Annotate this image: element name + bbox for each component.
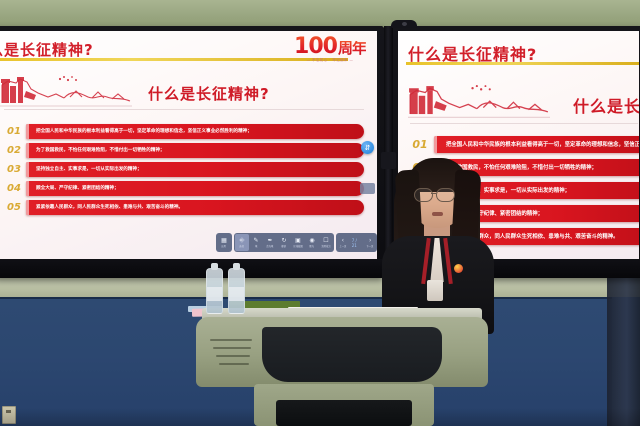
slide-main-title: 什么是长征精神?: [148, 83, 270, 104]
logo-unit: 周年: [338, 41, 366, 56]
badge: [427, 280, 443, 301]
page-number: 7 / 21: [352, 238, 362, 248]
bullet-text: 坚持独立自主、实事求是，一切从实际出发的精神；: [26, 162, 364, 177]
spotlight-glyph: ◉: [309, 237, 316, 244]
bullet-number: 04: [2, 183, 26, 194]
party-pin-icon: [454, 264, 463, 273]
annotation-toolbar[interactable]: ▦ 应用 ⎆ 选择 ✎ 笔 ✒: [216, 233, 377, 252]
water-bottle: [228, 268, 245, 314]
glasses-bridge: [431, 193, 436, 194]
bullet-row: 05 紧紧依靠人民群众，同人民群众生死相依、患难与共、艰苦奋斗的精神。: [2, 199, 364, 215]
apps-icon[interactable]: ▦ 应用: [217, 234, 231, 251]
bullet-row: 02 为了救国救民，不怕任何艰难险阻，不惜付出一切牺牲的精神；: [2, 142, 364, 158]
screenshot-icon[interactable]: ▣ 区域截图: [291, 234, 305, 251]
toolbar-pager-group[interactable]: ‹ 上一页 7 / 21 › 下一页: [336, 233, 377, 252]
bullet-number: 01: [2, 126, 26, 137]
erase-glyph: ☐: [323, 237, 330, 244]
cursor-label: 选择: [240, 245, 245, 248]
camera-icon: [391, 20, 417, 28]
slide-separator: [4, 109, 364, 110]
anniversary-logo: 100 周年 — 不忘初心 · 牢记使命 —: [288, 36, 372, 62]
logo-subtitle: — 不忘初心 · 牢记使命 —: [288, 59, 372, 62]
highlighter-label: 荧光笔: [266, 245, 273, 248]
bullet-text: 把全国人民和中华民族的根本利益看得高于一切，坚定革命的理想和信念，坚信正义事业必…: [434, 136, 639, 153]
water-bottle: [206, 268, 223, 314]
bottle-label: [207, 287, 222, 301]
podium-vent: [219, 363, 249, 365]
screenshot-label: 区域截图: [293, 245, 302, 248]
bullet-number: 03: [2, 164, 26, 175]
spotlight-icon[interactable]: ◉ 聚光: [305, 234, 319, 251]
glasses-icon: [414, 188, 433, 202]
cursor-icon[interactable]: ⎆ 选择: [235, 234, 249, 251]
prev-glyph: ‹: [342, 237, 344, 244]
chevron-right-icon[interactable]: › 下一页: [364, 234, 376, 251]
pen-icon[interactable]: ✎ 笔: [249, 234, 263, 251]
erase-icon[interactable]: ☐ 清除批注: [319, 234, 333, 251]
prev-label: 上一页: [339, 245, 346, 248]
apps-label: 应用: [222, 245, 227, 248]
slide-header-rule: [406, 62, 639, 65]
highlighter-glyph: ✒: [267, 237, 274, 244]
slide-main-title: 什么是长: [573, 93, 639, 117]
presenter: [378, 152, 496, 332]
bullet-row: 01 把全国人民和中华民族的根本利益看得高于一切，坚定革命的理想和信念，坚信正义…: [406, 135, 639, 153]
toolbar-tools-group[interactable]: ⎆ 选择 ✎ 笔 ✒ 荧光笔 ↻ 撤销: [234, 233, 334, 252]
bullet-row: 01 把全国人民和中华民族的根本利益看得高于一切，坚定革命的理想和信念，坚信正义…: [2, 123, 364, 139]
podium-front-panel: [262, 327, 442, 382]
bullet-number: 05: [2, 202, 26, 213]
spotlight-label: 聚光: [310, 245, 315, 248]
bullet-text: 为了救国救民，不怕任何艰难险阻，不惜付出一切牺牲的精神；: [26, 143, 364, 158]
undo-icon[interactable]: ↻ 撤销: [277, 234, 291, 251]
logo-number: 100: [294, 36, 337, 58]
wainscot-trim: [0, 297, 640, 299]
left-display-screen[interactable]: 么是长征精神? 100 周年 — 不忘初心 · 牢记使命 —: [0, 31, 377, 259]
toolbar-apps-group[interactable]: ▦ 应用: [216, 233, 232, 252]
page-indicator[interactable]: 7 / 21: [349, 238, 365, 248]
podium-vent: [216, 355, 250, 357]
erase-label: 清除批注: [321, 245, 330, 248]
bullet-row: 04 顾全大局、严守纪律、紧密团结的精神；: [2, 180, 364, 196]
podium-base-inset: [276, 400, 412, 426]
podium: [196, 308, 488, 426]
bullet-list: 01 把全国人民和中华民族的根本利益看得高于一切，坚定革命的理想和信念，坚信正义…: [2, 123, 364, 215]
podium-vent: [213, 347, 251, 349]
great-wall-ink-illustration: [0, 67, 132, 111]
slide-header-title: 么是长征精神?: [0, 39, 94, 60]
bullet-text: 顾全大局、严守纪律、紧密团结的精神；: [26, 181, 364, 196]
bullet-text: 把全国人民和中华民族的根本利益看得高于一切，坚定革命的理想和信念，坚信正义事业必…: [26, 124, 364, 139]
undo-glyph: ↻: [281, 237, 288, 244]
slide-left: 么是长征精神? 100 周年 — 不忘初心 · 牢记使命 —: [0, 31, 377, 259]
undo-label: 撤销: [282, 245, 287, 248]
bullet-number: 02: [2, 145, 26, 156]
share-icon[interactable]: ⇵: [361, 141, 374, 154]
glasses-icon: [436, 188, 455, 202]
pen-label: 笔: [255, 245, 257, 248]
next-label: 下一页: [367, 245, 374, 248]
next-glyph: ›: [369, 237, 371, 244]
left-display-chin: [0, 259, 384, 278]
pen-glyph: ✎: [253, 237, 260, 244]
bullet-number: 01: [406, 138, 434, 151]
bullet-text: 紧紧依靠人民群众，同人民群众生死相依、患难与共、艰苦奋斗的精神。: [26, 200, 364, 215]
bottle-label: [229, 287, 244, 301]
classroom-scene: 么是长征精神? 100 周年 — 不忘初心 · 牢记使命 —: [0, 0, 640, 426]
slide-separator: [410, 123, 638, 124]
chevron-left-icon[interactable]: ‹ 上一页: [337, 234, 349, 251]
menu-chip[interactable]: [360, 183, 375, 194]
cursor-glyph: ⎆: [239, 237, 246, 244]
bullet-row: 03 坚持独立自主、实事求是，一切从实际出发的精神；: [2, 161, 364, 177]
podium-vent: [210, 339, 252, 341]
screenshot-glyph: ▣: [295, 237, 302, 244]
apps-glyph: ▦: [221, 237, 228, 244]
great-wall-ink-illustration: [408, 75, 550, 123]
presenter-mouth: [432, 212, 443, 216]
left-display[interactable]: 么是长征精神? 100 周年 — 不忘初心 · 牢记使命 —: [0, 26, 384, 278]
highlighter-icon[interactable]: ✒ 荧光笔: [263, 234, 277, 251]
